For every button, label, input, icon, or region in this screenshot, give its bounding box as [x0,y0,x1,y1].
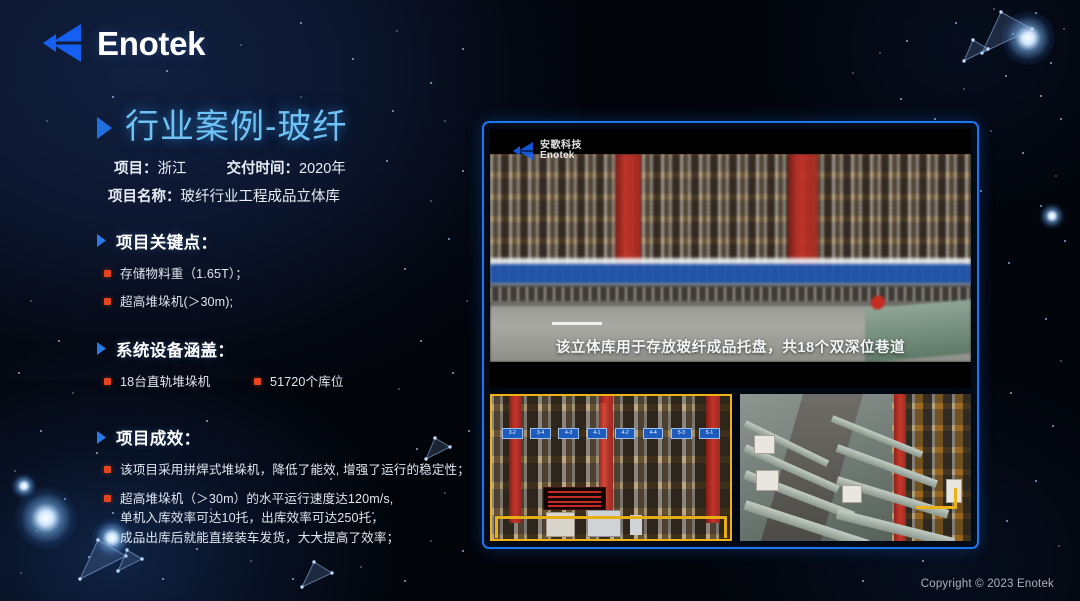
star-dot [1035,12,1037,14]
star-dot [14,470,16,472]
star-dot [1058,545,1060,547]
video-watermark: 安歌科技 Enotek [512,141,582,161]
star-dot [64,498,66,500]
chevron-right-icon [96,116,113,140]
star-dot [1010,392,1012,394]
star-dot [462,48,464,50]
glow-star [15,487,77,549]
star-dot [1064,240,1066,242]
chevron-right-icon [96,233,107,248]
star-dot [240,44,242,46]
star-dot [46,120,48,122]
bullet-square-icon [254,378,261,385]
bullet-item: 超高堆垛机(＞30m); [104,293,476,313]
star-dot [852,72,854,74]
star-dot [1005,75,1007,77]
thumbnail-row: 3-23-44-34-14-24-45-35-1 [490,394,971,541]
thumbnail-conveyor-photo[interactable] [740,394,971,541]
project-meta-row-2: 项目名称：玻纤行业工程成品立体库 [108,190,476,205]
star-dot [1012,33,1014,35]
section-heading-text: 项目成效： [116,425,201,449]
glow-star [1039,203,1065,229]
star-dot [396,30,398,32]
bullet-square-icon [104,466,111,473]
project-name-label: 项目名称： [108,189,181,205]
bullet-text: 超高堆垛机（＞30m）的水平运行速度达120m/s,单机入库效率可达10托，出库… [120,490,399,549]
star-dot [404,580,406,582]
project-name-value: 玻纤行业工程成品立体库 [181,189,341,205]
star-dot [352,58,354,60]
star-dot [1060,360,1062,362]
bullet-list: 该项目采用拼焊式堆垛机，降低了能效, 增强了运行的稳定性；超高堆垛机（＞30m）… [96,461,476,548]
star-dot [1050,62,1052,64]
star-dot [36,530,38,532]
section-block: 系统设备涵盖：18台直轨堆垛机51720个库位 [96,337,476,402]
enotek-arrow-logo-icon [512,141,534,161]
bullet-square-icon [104,378,111,385]
glow-star [1001,11,1055,65]
star-dot [430,82,432,84]
brand-logo: Enotek [40,22,205,64]
glow-star [11,473,37,499]
star-dot [292,578,294,580]
bullet-text: 18台直轨堆垛机 [120,373,210,393]
page-title-text: 行业案例-玻纤 [125,110,347,146]
star-dot [990,130,992,132]
star-dot [1055,175,1057,177]
bullet-item: 18台直轨堆垛机 [104,373,254,393]
media-panel: 安歌科技 Enotek 该立体库用于存放玻纤成品托盘，共18个双深位巷道 3-2… [482,121,979,549]
star-dot [862,580,864,582]
slide-canvas: Enotek 行业案例-玻纤 项目：浙江交付时间：2020年 项目名称：玻纤行业… [0,0,1080,601]
project-label: 项目： [114,161,158,177]
star-dot [300,22,302,24]
star-dot [900,98,902,100]
star-dot [1006,520,1008,522]
star-dot [922,560,924,562]
left-content-column: 行业案例-玻纤 项目：浙江交付时间：2020年 项目名称：玻纤行业工程成品立体库… [96,110,476,557]
caption-underline [552,322,602,325]
section-block: 项目关键点：存储物料重（1.65T）；超高堆垛机(＞30m); [96,229,476,313]
section-heading: 项目关键点： [96,229,476,253]
video-caption: 该立体库用于存放玻纤成品托盘，共18个双深位巷道 [490,336,971,357]
page-title: 行业案例-玻纤 [96,110,476,146]
star-dot [1060,118,1062,120]
star-dot [162,578,164,580]
star-dot [980,190,982,192]
star-dot [40,430,42,432]
star-dot [1052,425,1054,427]
star-dot [955,22,957,24]
video-frame-image [490,154,971,362]
sections-list: 项目关键点：存储物料重（1.65T）；超高堆垛机(＞30m);系统设备涵盖：18… [96,229,476,549]
video-player[interactable]: 安歌科技 Enotek 该立体库用于存放玻纤成品托盘，共18个双深位巷道 [490,129,971,387]
bullet-text: 该项目采用拼焊式堆垛机，降低了能效, 增强了运行的稳定性； [120,461,470,481]
constellation-triangle [980,10,1036,56]
section-heading: 项目成效： [96,425,476,449]
bullet-text: 存储物料重（1.65T）； [120,265,248,285]
bullet-text: 51720个库位 [270,373,344,393]
star-dot [1040,205,1042,207]
chevron-right-icon [96,341,107,356]
star-dot [1063,28,1065,30]
section-heading: 系统设备涵盖： [96,337,476,361]
brand-name: Enotek [97,27,205,60]
star-dot [30,300,32,302]
star-dot [360,566,362,568]
delivery-value: 2020年 [299,161,346,177]
star-dot [18,372,20,374]
star-dot [72,392,74,394]
bullet-item: 51720个库位 [254,373,344,393]
star-dot [112,96,114,98]
section-heading-text: 系统设备涵盖： [116,337,234,361]
bullet-list: 存储物料重（1.65T）；超高堆垛机(＞30m); [96,265,476,313]
bullet-item: 超高堆垛机（＞30m）的水平运行速度达120m/s,单机入库效率可达10托，出库… [104,490,476,549]
star-dot [1040,95,1042,97]
star-dot [879,52,881,54]
delivery-label: 交付时间： [227,161,300,177]
star-dot [1045,318,1047,320]
star-dot [1035,480,1037,482]
watermark-en-text: Enotek [540,151,582,161]
star-dot [88,556,90,558]
star-dot [906,40,908,42]
bullet-square-icon [104,495,111,502]
bullet-square-icon [104,270,111,277]
section-block: 项目成效：该项目采用拼焊式堆垛机，降低了能效, 增强了运行的稳定性；超高堆垛机（… [96,425,476,548]
constellation-triangle [300,560,336,590]
bullet-list: 18台直轨堆垛机51720个库位 [96,373,476,402]
star-dot [1022,152,1024,154]
copyright-text: Copyright © 2023 Enotek [921,578,1054,590]
star-dot [20,572,22,574]
star-dot [963,88,965,90]
bullet-square-icon [104,298,111,305]
project-value: 浙江 [158,161,187,177]
thumbnail-racking-photo[interactable]: 3-23-44-34-14-24-45-35-1 [490,394,732,541]
bullet-text: 超高堆垛机(＞30m); [120,293,233,313]
star-dot [300,96,302,98]
constellation-triangle [962,38,992,64]
bullet-item: 该项目采用拼焊式堆垛机，降低了能效, 增强了运行的稳定性； [104,461,476,481]
enotek-arrow-logo-icon [40,22,84,64]
star-dot [993,8,995,10]
star-dot [250,560,252,562]
star-dot [934,118,936,120]
project-meta-row-1: 项目：浙江交付时间：2020年 [114,162,476,177]
star-dot [1008,262,1010,264]
star-dot [58,340,60,342]
chevron-right-icon [96,430,107,445]
bullet-item: 存储物料重（1.65T）； [104,265,476,285]
section-heading-text: 项目关键点： [116,229,217,253]
star-dot [166,70,168,72]
